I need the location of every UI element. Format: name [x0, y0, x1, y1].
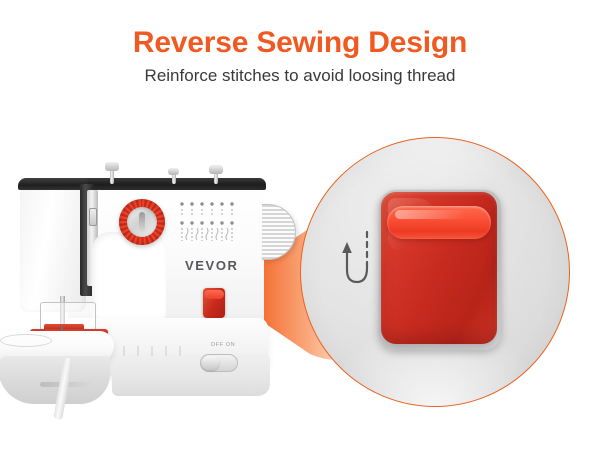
- handwheel[interactable]: [262, 204, 296, 260]
- stitch-pattern-chart: [176, 200, 240, 244]
- reverse-lever-handle[interactable]: [387, 206, 491, 239]
- machine-base-right: [112, 354, 270, 396]
- power-switch-label: OFF ON: [195, 342, 251, 348]
- thread-tension-dial[interactable]: [89, 208, 97, 226]
- magnified-detail-circle: [300, 137, 570, 407]
- stitch-selector-dial-marker: [139, 212, 145, 232]
- machine-reverse-lever-tab[interactable]: [204, 290, 224, 299]
- machine-head-top-cover: [18, 178, 88, 190]
- bobbin-winder-cap: [168, 168, 179, 175]
- power-switch-knob[interactable]: [202, 356, 219, 370]
- spool-cap: [105, 162, 119, 171]
- brand-logo-text: VEVOR: [185, 258, 255, 273]
- machine-top-cover: [66, 178, 266, 190]
- reverse-stitch-arrow-icon: [337, 228, 377, 292]
- extension-table-marking: [0, 334, 52, 347]
- spool-cap-secondary: [209, 165, 223, 174]
- product-image-stage: Reverse Sewing Design Reinforce stitches…: [0, 0, 600, 450]
- free-arm-base: [0, 356, 110, 404]
- page-title: Reverse Sewing Design: [0, 24, 600, 62]
- page-subtitle: Reinforce stitches to avoid loosing thre…: [0, 63, 600, 89]
- machine-throat-cutout: [92, 232, 166, 320]
- machine-head: [20, 184, 86, 312]
- sewing-machine-product: VEVOR OFF ON: [0, 168, 302, 438]
- header: Reverse Sewing Design Reinforce stitches…: [0, 0, 600, 104]
